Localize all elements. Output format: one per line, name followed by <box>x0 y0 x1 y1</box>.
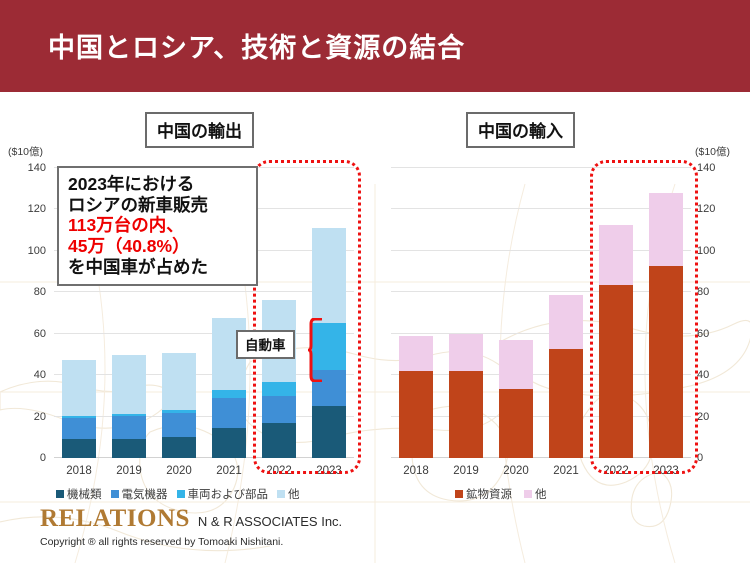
bar-segment[interactable] <box>62 360 96 416</box>
bar-segment[interactable] <box>212 398 246 428</box>
bar-segment[interactable] <box>449 334 483 372</box>
callout-line-4: 45万（40.8%） <box>68 236 248 257</box>
legend-swatch <box>277 490 285 498</box>
bar-group-2022[interactable] <box>262 168 296 458</box>
copyright-text: Copyright ® all rights reserved by Tomoa… <box>40 536 342 548</box>
bar-segment[interactable] <box>262 423 296 458</box>
bar-segment[interactable] <box>112 355 146 414</box>
page-title: 中国とロシア、技術と資源の結合 <box>48 26 465 65</box>
imports-x-axis-labels: 201820192020202120222023 <box>391 464 691 480</box>
y-axis-tick: 120 <box>12 204 46 214</box>
imports-chart-title: 中国の輸入 <box>466 112 575 148</box>
bar-segment[interactable] <box>399 371 433 458</box>
y-axis-tick: 140 <box>12 163 46 173</box>
bar-segment[interactable] <box>549 349 583 458</box>
bar-segment[interactable] <box>549 295 583 349</box>
legend-label: 他 <box>535 486 547 502</box>
bar-segment[interactable] <box>112 414 146 416</box>
callout-line-5: を中国車が占めた <box>68 257 248 278</box>
y-axis-tick: 60 <box>12 329 46 339</box>
legend-swatch <box>524 490 532 498</box>
callout-textbox: 2023年における ロシアの新車販売 113万台の内、 45万（40.8%） を… <box>57 166 258 286</box>
bar-segment[interactable] <box>162 413 196 437</box>
x-axis-label-2022: 2022 <box>590 464 642 478</box>
y-axis-tick: 100 <box>12 246 46 256</box>
bar-group-2023[interactable] <box>312 168 346 458</box>
bar-segment[interactable] <box>112 439 146 458</box>
legend-item[interactable]: 鉱物資源 <box>455 486 512 502</box>
automobile-brace-icon <box>308 318 322 382</box>
callout-line-2: ロシアの新車販売 <box>68 195 248 216</box>
exports-x-axis-labels: 201820192020202120222023 <box>54 464 354 480</box>
x-axis-label-2019: 2019 <box>103 464 155 478</box>
bar-segment[interactable] <box>162 353 196 410</box>
brand-name: RELATIONS <box>40 505 190 533</box>
x-axis-label-2018: 2018 <box>53 464 105 478</box>
legend-swatch <box>177 490 185 498</box>
callout-line-1: 2023年における <box>68 174 248 195</box>
bar-group-2022[interactable] <box>599 168 633 458</box>
x-axis-label-2020: 2020 <box>490 464 542 478</box>
bar-segment[interactable] <box>212 390 246 398</box>
bar-segment[interactable] <box>649 266 683 458</box>
exports-chart-title: 中国の輸出 <box>145 112 254 148</box>
y-axis-tick: 80 <box>697 287 731 297</box>
bar-segment[interactable] <box>312 228 346 323</box>
bar-segment[interactable] <box>262 382 296 395</box>
y-axis-tick: 140 <box>697 163 731 173</box>
legend-label: 他 <box>288 486 300 502</box>
legend-item[interactable]: 車両および部品 <box>177 486 269 502</box>
x-axis-label-2022: 2022 <box>253 464 305 478</box>
footer: RELATIONS N & R ASSOCIATES Inc. Copyrigh… <box>40 505 342 548</box>
x-axis-label-2019: 2019 <box>440 464 492 478</box>
legend-label: 車両および部品 <box>188 486 269 502</box>
x-axis-label-2020: 2020 <box>153 464 205 478</box>
slide-canvas: 中国とロシア、技術と資源の結合 中国の輸出 ($10億) 02040608010… <box>0 0 750 563</box>
imports-legend: 鉱物資源他 <box>455 486 547 502</box>
imports-plot-area: 020406080100120140 <box>391 168 691 458</box>
bar-group-2020[interactable] <box>499 168 533 458</box>
legend-item[interactable]: 他 <box>277 486 300 502</box>
exports-legend: 機械類電気機器車両および部品他 <box>56 486 300 502</box>
y-axis-tick: 60 <box>697 329 731 339</box>
y-axis-tick: 0 <box>12 453 46 463</box>
x-axis-label-2021: 2021 <box>540 464 592 478</box>
legend-item[interactable]: 電気機器 <box>111 486 168 502</box>
bar-segment[interactable] <box>62 416 96 418</box>
exports-unit-label: ($10億) <box>8 144 43 159</box>
y-axis-tick: 20 <box>12 412 46 422</box>
legend-item[interactable]: 他 <box>524 486 547 502</box>
legend-label: 電気機器 <box>122 486 168 502</box>
legend-label: 機械類 <box>67 486 102 502</box>
bar-series-container <box>391 168 691 458</box>
bar-segment[interactable] <box>499 389 533 458</box>
bar-group-2018[interactable] <box>399 168 433 458</box>
legend-item[interactable]: 機械類 <box>56 486 102 502</box>
automobile-annotation-label: 自動車 <box>236 330 295 359</box>
bar-segment[interactable] <box>62 439 96 458</box>
bar-segment[interactable] <box>649 193 683 267</box>
bar-segment[interactable] <box>162 437 196 458</box>
x-axis-label-2023: 2023 <box>303 464 355 478</box>
y-axis-tick: 100 <box>697 246 731 256</box>
callout-line-3: 113万台の内、 <box>68 215 248 236</box>
bar-segment[interactable] <box>599 285 633 458</box>
imports-unit-label: ($10億) <box>695 144 730 159</box>
bar-group-2019[interactable] <box>449 168 483 458</box>
legend-swatch <box>56 490 64 498</box>
x-axis-label-2021: 2021 <box>203 464 255 478</box>
bar-segment[interactable] <box>312 406 346 458</box>
bar-segment[interactable] <box>212 428 246 458</box>
legend-swatch <box>111 490 119 498</box>
bar-segment[interactable] <box>112 416 146 439</box>
legend-swatch <box>455 490 463 498</box>
bar-segment[interactable] <box>399 336 433 371</box>
y-axis-tick: 20 <box>697 412 731 422</box>
bar-group-2021[interactable] <box>549 168 583 458</box>
y-axis-tick: 40 <box>12 370 46 380</box>
brand-subtitle: N & R ASSOCIATES Inc. <box>198 514 342 529</box>
imports-chart-panel: 中国の輸入 ($10億) 020406080100120140 20182019… <box>375 92 750 563</box>
legend-label: 鉱物資源 <box>466 486 512 502</box>
bar-segment[interactable] <box>162 410 196 413</box>
bar-group-2023[interactable] <box>649 168 683 458</box>
x-axis-label-2023: 2023 <box>640 464 692 478</box>
y-axis-tick: 40 <box>697 370 731 380</box>
title-banner: 中国とロシア、技術と資源の結合 <box>0 0 750 92</box>
bar-segment[interactable] <box>262 396 296 423</box>
brand-logo: RELATIONS N & R ASSOCIATES Inc. <box>40 505 342 533</box>
bar-segment[interactable] <box>449 371 483 458</box>
x-axis-label-2018: 2018 <box>390 464 442 478</box>
bar-segment[interactable] <box>599 225 633 285</box>
y-axis-tick: 80 <box>12 287 46 297</box>
bar-segment[interactable] <box>499 340 533 389</box>
bar-segment[interactable] <box>62 418 96 439</box>
y-axis-tick: 120 <box>697 204 731 214</box>
y-axis-tick: 0 <box>697 453 731 463</box>
